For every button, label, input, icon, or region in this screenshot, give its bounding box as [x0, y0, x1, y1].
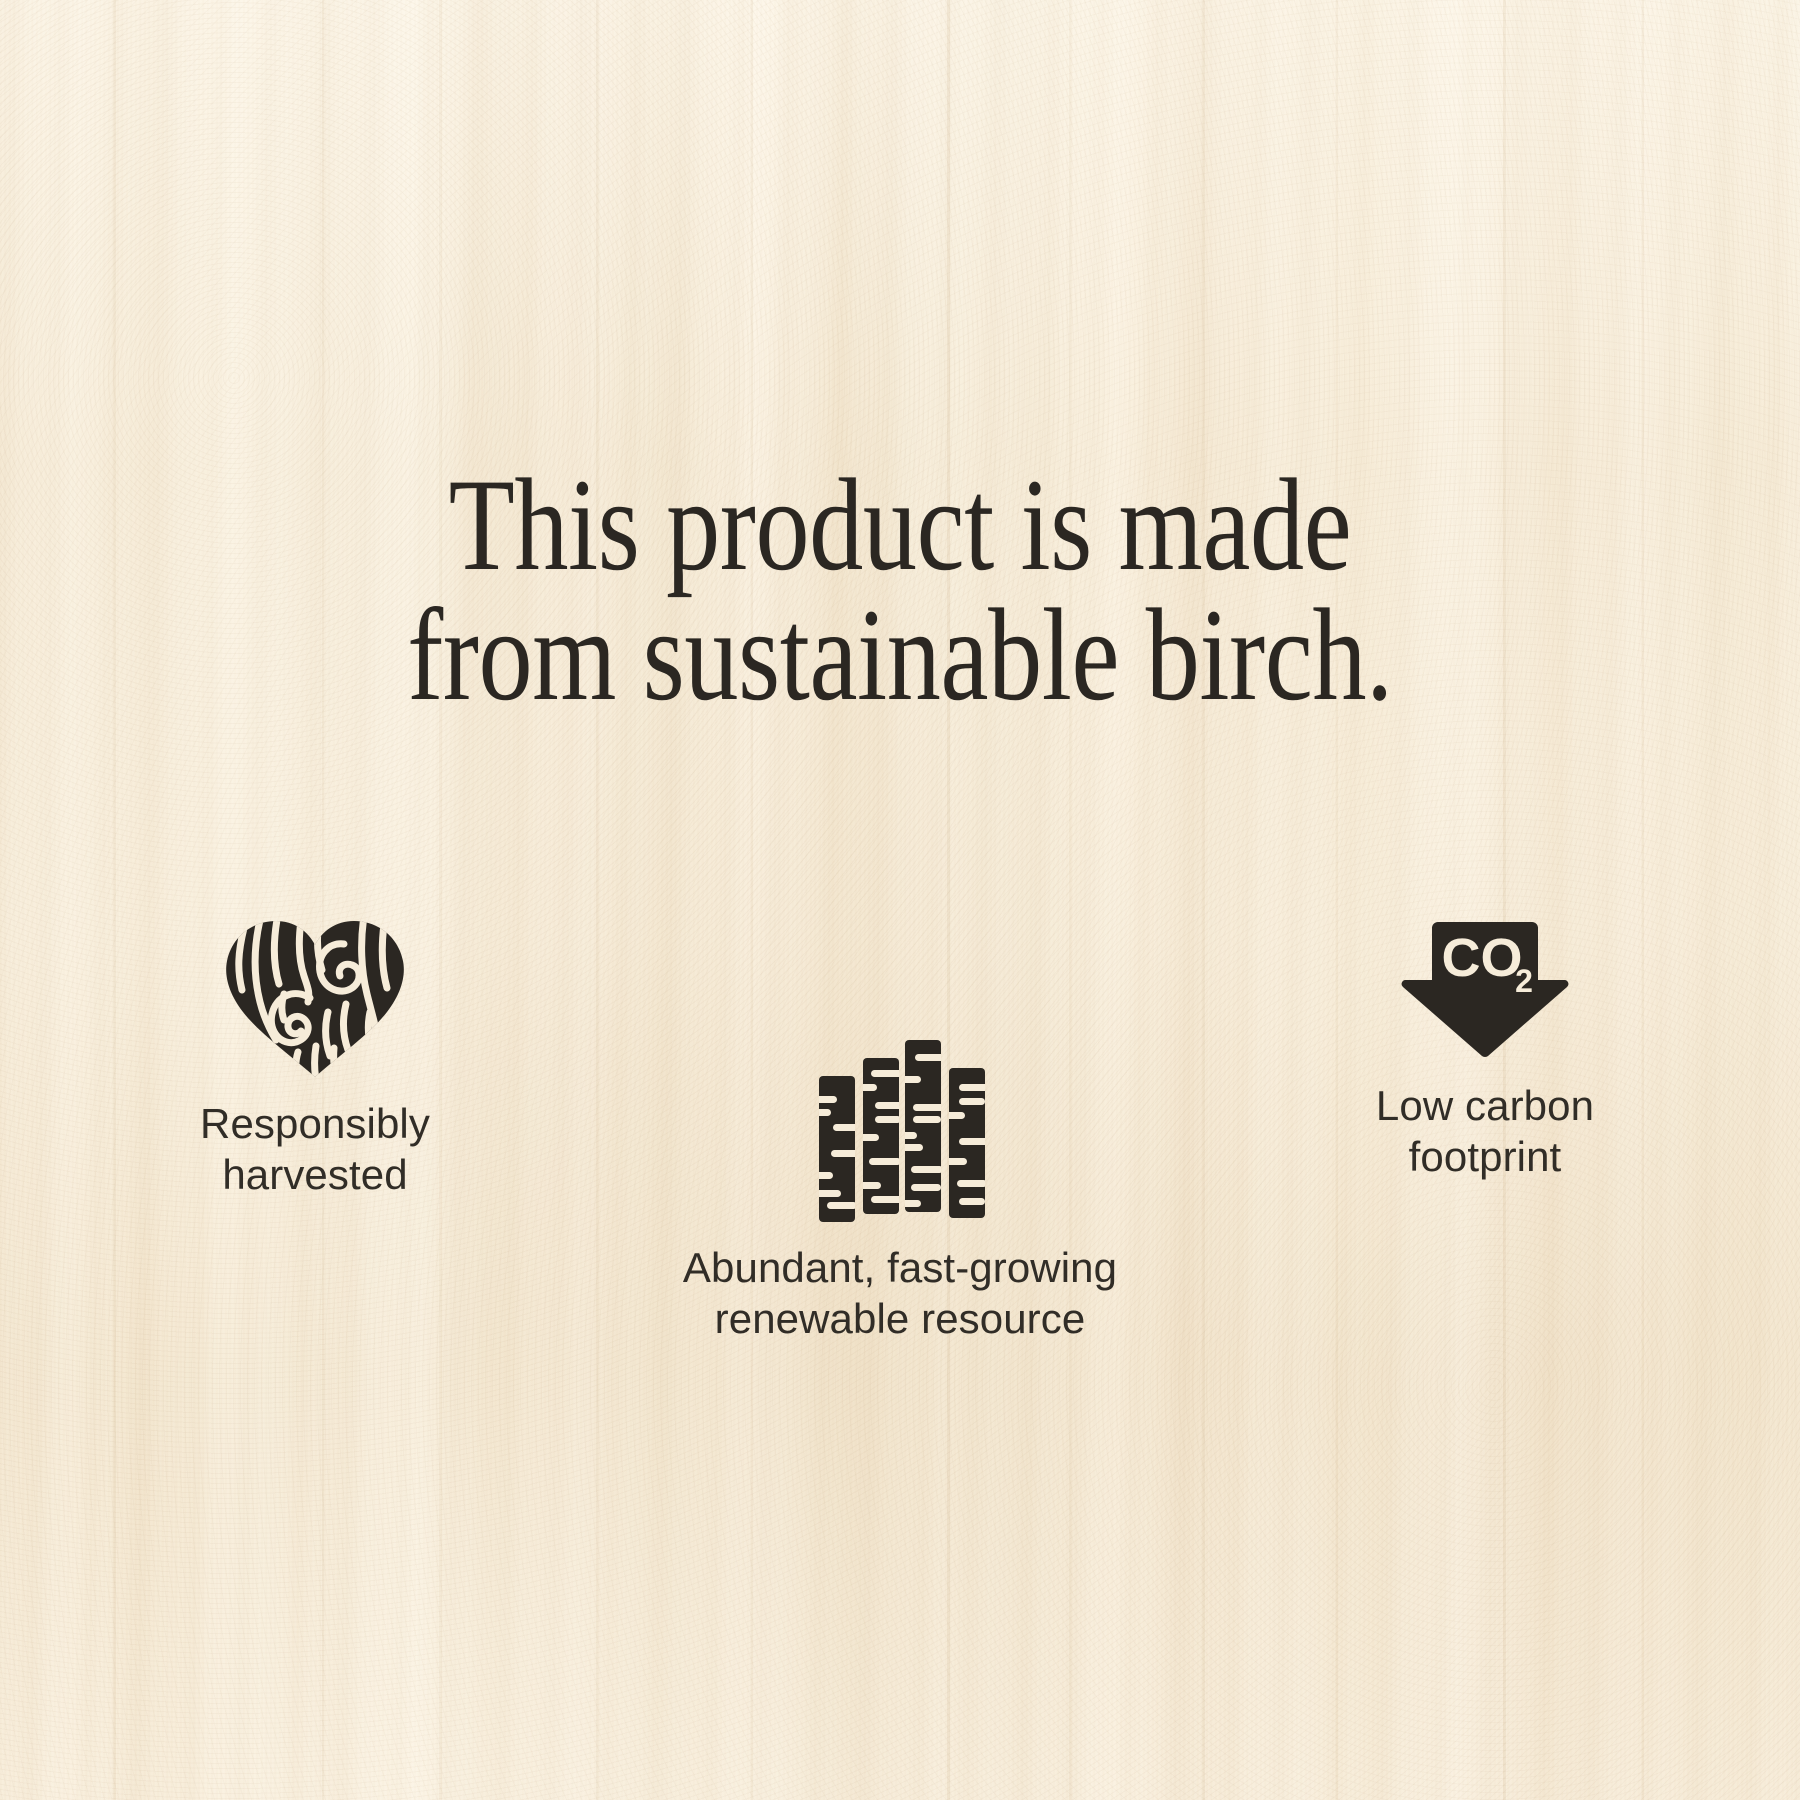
- feature-icon-wrap: [100, 918, 530, 1078]
- feature-caption-renewable-resource: Abundant, fast-growing renewable resourc…: [640, 1242, 1160, 1344]
- co2-icon-subscript: 2: [1515, 963, 1533, 999]
- feature-list: Responsibly harvested: [0, 880, 1800, 1340]
- feature-responsibly-harvested: Responsibly harvested: [100, 918, 530, 1200]
- feature-icon-wrap: CO 2: [1270, 918, 1700, 1060]
- birch-trunks-icon: [809, 1040, 991, 1222]
- birch-panel: This product is made from sustainable bi…: [0, 0, 1800, 1800]
- co2-icon-label: CO: [1442, 928, 1523, 988]
- co2-down-arrow-icon: CO 2: [1400, 918, 1570, 1060]
- feature-icon-wrap: [640, 1040, 1160, 1222]
- wood-grain-heart-icon: [224, 918, 406, 1078]
- feature-low-carbon-footprint: CO 2 Low carbon footprint: [1270, 918, 1700, 1182]
- page-title: This product is made from sustainable bi…: [162, 460, 1638, 719]
- feature-renewable-resource: Abundant, fast-growing renewable resourc…: [640, 1040, 1160, 1344]
- content-root: This product is made from sustainable bi…: [0, 0, 1800, 1800]
- feature-caption-responsibly-harvested: Responsibly harvested: [100, 1098, 530, 1200]
- feature-caption-low-carbon-footprint: Low carbon footprint: [1270, 1080, 1700, 1182]
